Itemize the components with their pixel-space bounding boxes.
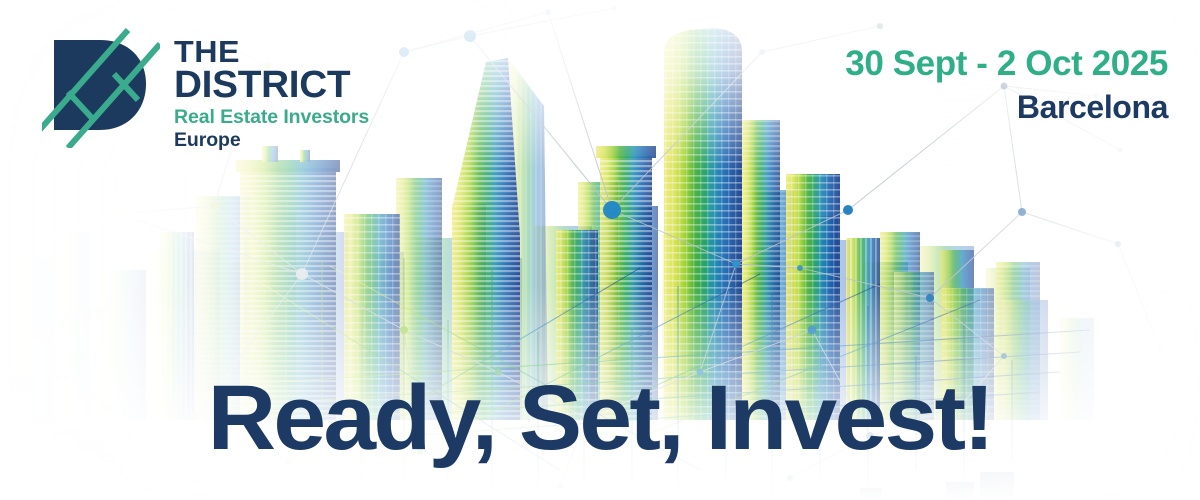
logo-region: Europe	[174, 129, 369, 152]
the-district-d-monogram-icon	[42, 26, 160, 148]
logo-line-the: THE	[174, 38, 377, 67]
logo-tagline: Real Estate Investors	[174, 106, 369, 129]
event-dates: 30 Sept - 2 Oct 2025	[845, 46, 1168, 83]
event-details: 30 Sept - 2 Oct 2025 Barcelona	[845, 46, 1168, 126]
logo-line-district: DISTRICT	[174, 67, 373, 104]
event-banner: THE DISTRICT Real Estate Investors Europ…	[0, 0, 1200, 500]
logo-wordmark: THE DISTRICT Real Estate Investors Europ…	[174, 26, 369, 152]
headline-container: Ready, Set, Invest!	[0, 372, 1200, 464]
the-district-logo[interactable]: THE DISTRICT Real Estate Investors Europ…	[42, 26, 369, 152]
event-city: Barcelona	[845, 89, 1168, 126]
headline-text: Ready, Set, Invest!	[208, 372, 993, 464]
